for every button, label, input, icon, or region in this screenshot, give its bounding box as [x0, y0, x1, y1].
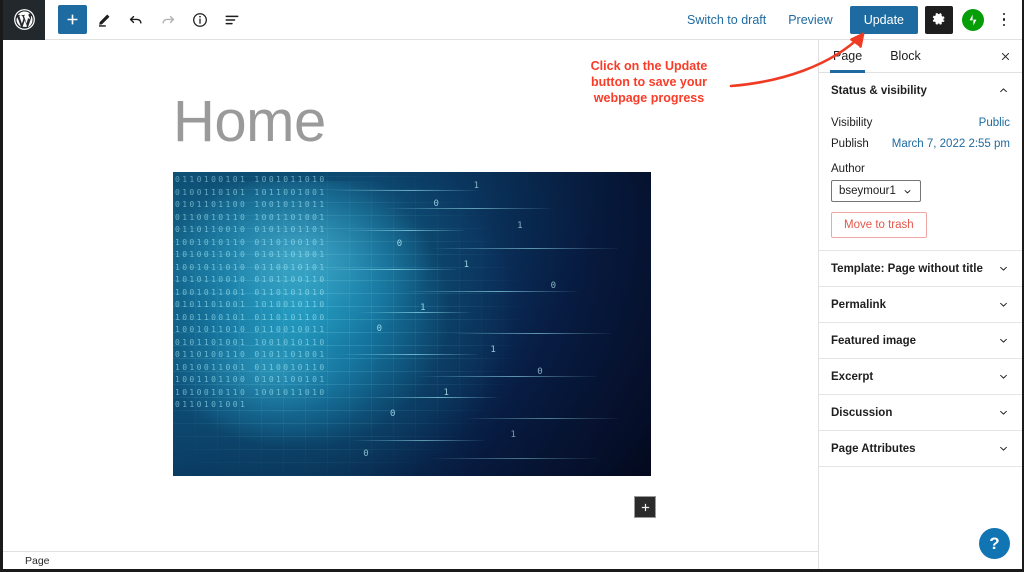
chevron-down-icon[interactable]: [997, 334, 1010, 347]
panel-excerpt: Excerpt: [819, 359, 1022, 395]
panel-title: Discussion: [831, 407, 892, 419]
list-view-icon[interactable]: [217, 5, 247, 35]
panel-discussion: Discussion: [819, 395, 1022, 431]
row-visibility: Visibility Public: [831, 117, 1010, 129]
undo-arrow-icon[interactable]: [121, 5, 151, 35]
tab-page[interactable]: Page: [819, 40, 876, 72]
panel-excerpt-header[interactable]: Excerpt: [831, 359, 1010, 394]
author-select[interactable]: bseymour1: [831, 180, 921, 202]
panel-title: Page Attributes: [831, 443, 916, 455]
panel-title: Status & visibility: [831, 85, 927, 97]
panel-featured-image: Featured image: [819, 323, 1022, 359]
primary-tools: [45, 5, 247, 35]
update-button[interactable]: Update: [850, 6, 918, 34]
panel-title: Excerpt: [831, 371, 873, 383]
help-button[interactable]: ?: [979, 528, 1010, 559]
chevron-up-icon[interactable]: [997, 84, 1010, 97]
visibility-value[interactable]: Public: [979, 117, 1010, 129]
editor-top-bar: Switch to draft Preview Update: [3, 0, 1022, 40]
preview-button[interactable]: Preview: [777, 13, 843, 27]
add-block-button[interactable]: [58, 5, 87, 34]
move-to-trash-button[interactable]: Move to trash: [831, 212, 927, 238]
jetpack-bolt-icon[interactable]: [962, 9, 984, 31]
more-vertical-icon[interactable]: [995, 7, 1013, 33]
panel-permalink: Permalink: [819, 287, 1022, 323]
panel-template-header[interactable]: Template: Page without title: [831, 251, 1010, 286]
chevron-down-icon: [902, 186, 913, 197]
pencil-icon[interactable]: [89, 5, 119, 35]
top-bar-actions: Switch to draft Preview Update: [676, 6, 1022, 34]
panel-title: Featured image: [831, 335, 916, 347]
image-block[interactable]: 0110100101 1001011010 0100110101 1011001…: [173, 172, 651, 476]
info-circle-icon[interactable]: [185, 5, 215, 35]
chevron-down-icon[interactable]: [997, 262, 1010, 275]
publish-date-value[interactable]: March 7, 2022 2:55 pm: [892, 138, 1010, 150]
chevron-down-icon[interactable]: [997, 442, 1010, 455]
panel-featured-image-header[interactable]: Featured image: [831, 323, 1010, 358]
publish-label: Publish: [831, 138, 869, 150]
redo-arrow-icon[interactable]: [153, 5, 183, 35]
tab-block[interactable]: Block: [876, 40, 935, 72]
settings-sidebar: Page Block Status & visibility Visibilit…: [818, 40, 1022, 569]
screenshot-frame: Switch to draft Preview Update Home: [0, 0, 1024, 572]
chevron-down-icon[interactable]: [997, 370, 1010, 383]
panel-status-visibility: Status & visibility Visibility Public Pu…: [819, 73, 1022, 251]
chevron-down-icon[interactable]: [997, 298, 1010, 311]
panel-template: Template: Page without title: [819, 251, 1022, 287]
panel-title: Template: Page without title: [831, 263, 983, 275]
breadcrumb-item-page[interactable]: Page: [25, 555, 50, 567]
panel-discussion-header[interactable]: Discussion: [831, 395, 1010, 430]
panel-status-visibility-body: Visibility Public Publish March 7, 2022 …: [831, 117, 1010, 250]
gear-icon[interactable]: [925, 6, 953, 34]
editor-canvas[interactable]: Home 0110100101 1001011010 0100110101 10…: [3, 40, 818, 551]
close-icon[interactable]: [999, 50, 1012, 63]
panel-title: Permalink: [831, 299, 886, 311]
panel-status-visibility-header[interactable]: Status & visibility: [831, 73, 1010, 108]
author-select-value: bseymour1: [839, 185, 896, 197]
wordpress-logo-icon[interactable]: [3, 0, 45, 40]
switch-to-draft-button[interactable]: Switch to draft: [676, 13, 777, 27]
author-label: Author: [831, 163, 1010, 175]
panel-page-attributes: Page Attributes: [819, 431, 1022, 467]
breadcrumb: Page: [3, 551, 818, 569]
panel-permalink-header[interactable]: Permalink: [831, 287, 1010, 322]
visibility-label: Visibility: [831, 117, 872, 129]
panel-page-attributes-header[interactable]: Page Attributes: [831, 431, 1010, 466]
page-title[interactable]: Home: [173, 93, 326, 151]
chevron-down-icon[interactable]: [997, 406, 1010, 419]
sidebar-tabs: Page Block: [819, 40, 1022, 73]
row-publish: Publish March 7, 2022 2:55 pm: [831, 138, 1010, 150]
block-appender-button[interactable]: [634, 496, 656, 518]
image-vignette: [173, 172, 651, 476]
